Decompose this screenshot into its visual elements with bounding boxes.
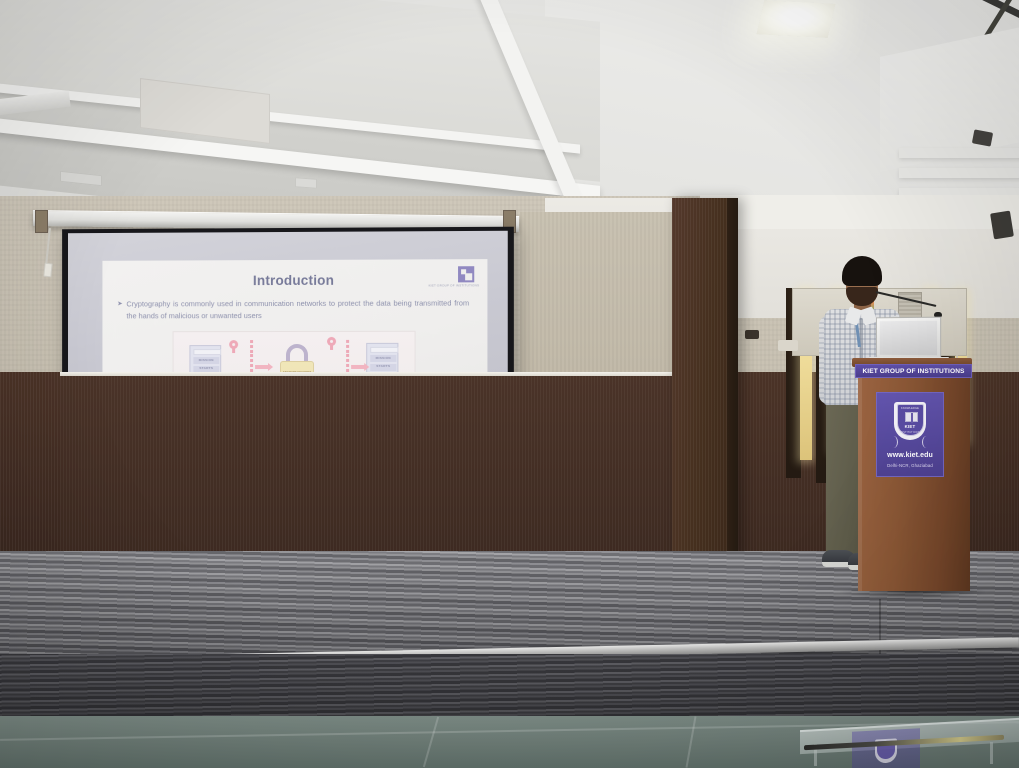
doc-right-line-2: STARTS — [370, 364, 396, 371]
wall-speaker-icon — [990, 211, 1014, 240]
laptop-screen[interactable] — [880, 321, 937, 356]
lower-wall-wood-left — [0, 372, 60, 558]
plaque-url: www.kiet.edu — [877, 452, 943, 459]
wall-device-light — [778, 340, 798, 351]
crest-top-text: KNOWLEDGE — [898, 407, 923, 410]
presenter-laptop[interactable] — [876, 317, 941, 360]
wood-column-edge — [727, 198, 738, 558]
ceiling-step-2 — [899, 168, 1019, 178]
doc-right-lines: MISSION STARTS — [370, 355, 396, 373]
table-branded-item — [852, 728, 920, 768]
kiet-square-logo — [458, 266, 474, 282]
doc-right-line-1: MISSION — [370, 355, 396, 362]
key-pin-icon-right — [327, 337, 336, 350]
kiet-crest-icon: KNOWLEDGE KIET INSTITUTIONS — [889, 400, 931, 448]
slide-bullet-1: ➤ Cryptography is commonly used in commu… — [117, 297, 469, 322]
presenter-hair — [842, 256, 882, 286]
key-pin-icon-left — [229, 340, 238, 353]
ceiling-grille-small — [295, 177, 317, 189]
table-leg-right — [990, 742, 993, 764]
presenter-beard — [846, 287, 878, 306]
crest-arc-text: INSTITUTIONS — [898, 431, 923, 434]
doc-left-line-1: MISSION — [193, 357, 219, 364]
floor-tile-line-v1 — [423, 717, 439, 768]
arrow-icon-encrypt — [255, 365, 269, 369]
led-ceiling-panel-icon — [757, 0, 836, 38]
podium: KIET GROUP OF INSTITUTIONS KNOWLEDGE KIE… — [852, 358, 972, 596]
crest-shield-inner: KNOWLEDGE KIET INSTITUTIONS — [897, 404, 924, 436]
screen-bracket-left — [35, 210, 48, 233]
slide-logo-caption: KIET GROUP OF INSTITUTIONS — [428, 283, 479, 287]
wall-device-dark — [745, 330, 759, 339]
podium-logo-plaque: KNOWLEDGE KIET INSTITUTIONS www.kiet.edu… — [876, 392, 944, 477]
crest-laurel-left — [889, 436, 898, 448]
acoustic-pad-center — [520, 212, 680, 372]
plaque-location: Delhi-NCR, Ghaziabad — [877, 463, 943, 468]
ceiling — [0, 0, 1019, 215]
key-tail-left — [232, 347, 235, 353]
crest-laurel-right — [922, 436, 931, 448]
upper-wall-white-band — [700, 195, 1019, 229]
arrow-icon-decrypt — [351, 365, 365, 369]
crest-monogram: KIET — [898, 424, 923, 429]
bullet-arrow-icon: ➤ — [117, 298, 122, 322]
ceiling-step-1 — [899, 148, 1019, 158]
podium-nameplate-text: KIET GROUP OF INSTITUTIONS — [862, 368, 964, 375]
podium-nameplate: KIET GROUP OF INSTITUTIONS — [855, 364, 972, 378]
glass-side-table — [800, 718, 1019, 768]
screen-cord-handle[interactable] — [43, 263, 52, 278]
slide-bullet-1-text: Cryptography is commonly used in communi… — [126, 297, 469, 322]
key-tail-right — [330, 344, 333, 350]
floor-tile-line-v2 — [686, 716, 697, 768]
crest-shield: KNOWLEDGE KIET INSTITUTIONS — [894, 402, 926, 440]
crest-book-icon — [905, 412, 918, 422]
auditorium-photo: Introduction KIET GROUP OF INSTITUTIONS … — [0, 0, 1019, 768]
